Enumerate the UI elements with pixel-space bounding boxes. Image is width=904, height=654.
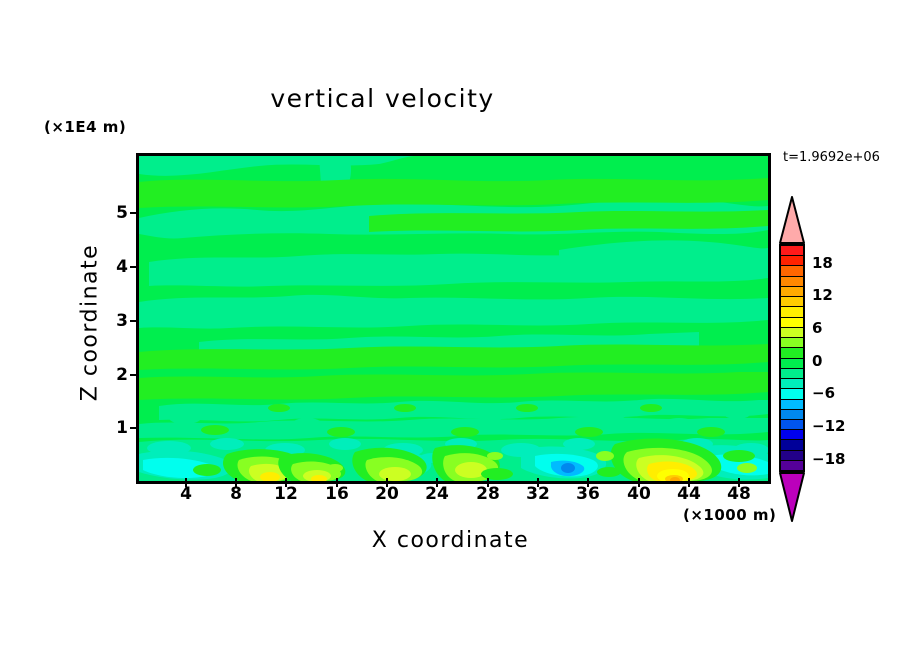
- colorbar-tick-label: 18: [812, 254, 833, 272]
- y-tick-label: 4: [98, 257, 128, 277]
- y-tick-mark: [130, 266, 139, 268]
- contour-field: [139, 156, 768, 481]
- colorbar-bottom-arrow-icon: [779, 472, 805, 522]
- colorbar-band: [781, 410, 803, 420]
- x-tick-label: 16: [317, 484, 357, 504]
- colorbar-band: [781, 318, 803, 328]
- colorbar-tick-label: 6: [812, 319, 822, 337]
- colorbar-band: [781, 297, 803, 307]
- colorbar-band: [781, 379, 803, 389]
- x-tick-label: 36: [568, 484, 608, 504]
- x-tick-label: 32: [518, 484, 558, 504]
- x-tick-label: 12: [266, 484, 306, 504]
- colorbar-top-arrow-icon: [779, 196, 805, 244]
- contour-plot-area: [136, 153, 771, 484]
- x-tick-label: 44: [669, 484, 709, 504]
- colorbar-band: [781, 246, 803, 256]
- colorbar-band: [781, 400, 803, 410]
- x-tick-label: 40: [619, 484, 659, 504]
- y-tick-mark: [130, 374, 139, 376]
- x-tick-label: 8: [216, 484, 256, 504]
- colorbar-tick-label: −12: [812, 417, 845, 435]
- colorbar-band: [781, 307, 803, 317]
- x-tick-label: 20: [367, 484, 407, 504]
- y-axis-unit-label: (×1E4 m): [44, 118, 126, 136]
- x-tick-label: 24: [417, 484, 457, 504]
- x-tick-label: 4: [166, 484, 206, 504]
- y-tick-label: 2: [98, 365, 128, 385]
- y-tick-mark: [130, 427, 139, 429]
- colorbar-band: [781, 266, 803, 276]
- x-axis-unit-label: (×1000 m): [683, 506, 776, 524]
- x-tick-label: 48: [719, 484, 759, 504]
- page-title: vertical velocity: [0, 84, 765, 113]
- y-axis-title: Z coordinate: [78, 173, 103, 473]
- colorbar-band: [781, 338, 803, 348]
- colorbar-tick-label: −6: [812, 384, 835, 402]
- colorbar-band: [781, 256, 803, 266]
- colorbar-band: [781, 287, 803, 297]
- colorbar: [779, 244, 805, 472]
- colorbar-band: [781, 461, 803, 470]
- colorbar-band: [781, 277, 803, 287]
- colorbar-band: [781, 430, 803, 440]
- y-tick-label: 5: [98, 203, 128, 223]
- colorbar-band: [781, 451, 803, 461]
- timestamp-annotation: t=1.9692e+06: [783, 150, 880, 165]
- colorbar-band: [781, 359, 803, 369]
- y-tick-mark: [130, 212, 139, 214]
- x-tick-label: 28: [468, 484, 508, 504]
- y-tick-label: 3: [98, 311, 128, 331]
- colorbar-band: [781, 440, 803, 450]
- colorbar-band: [781, 348, 803, 358]
- colorbar-band: [781, 328, 803, 338]
- colorbar-band: [781, 389, 803, 399]
- colorbar-tick-label: −18: [812, 450, 845, 468]
- y-tick-label: 1: [98, 418, 128, 438]
- colorbar-tick-label: 12: [812, 286, 833, 304]
- y-tick-mark: [130, 320, 139, 322]
- colorbar-tick-label: 0: [812, 352, 822, 370]
- figure-canvas: vertical velocity (×1E4 m) t=1.9692e+06: [0, 0, 904, 654]
- x-axis-title: X coordinate: [136, 528, 765, 553]
- colorbar-band: [781, 420, 803, 430]
- colorbar-band: [781, 369, 803, 379]
